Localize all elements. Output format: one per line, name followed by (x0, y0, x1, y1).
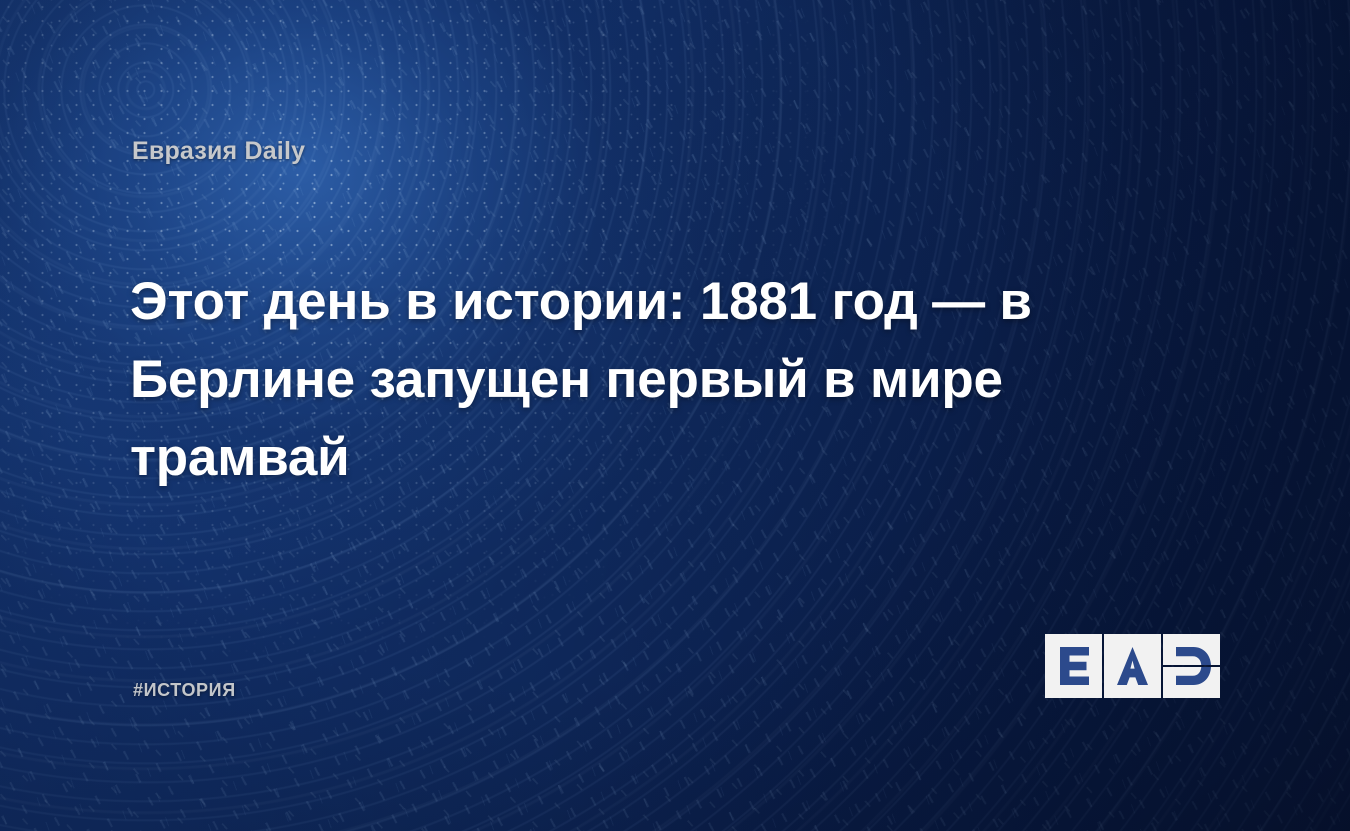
category-hashtag: #ИСТОРИЯ (133, 680, 236, 701)
logo-tile-a (1104, 634, 1161, 698)
logo-tile-d-split (1163, 634, 1220, 698)
logo-tile-e (1045, 634, 1102, 698)
social-share-card: Евразия Daily Этот день в истории: 1881 … (0, 0, 1350, 831)
logo-tile-d-lower (1163, 667, 1220, 698)
site-name-wordmark: Евразия Daily (132, 137, 305, 166)
eadaily-logo (1045, 634, 1221, 698)
logo-tile-d-upper (1163, 634, 1220, 665)
page-title: Этот день в истории: 1881 год — в Берлин… (130, 263, 1090, 497)
card-content: Евразия Daily Этот день в истории: 1881 … (0, 0, 1350, 831)
